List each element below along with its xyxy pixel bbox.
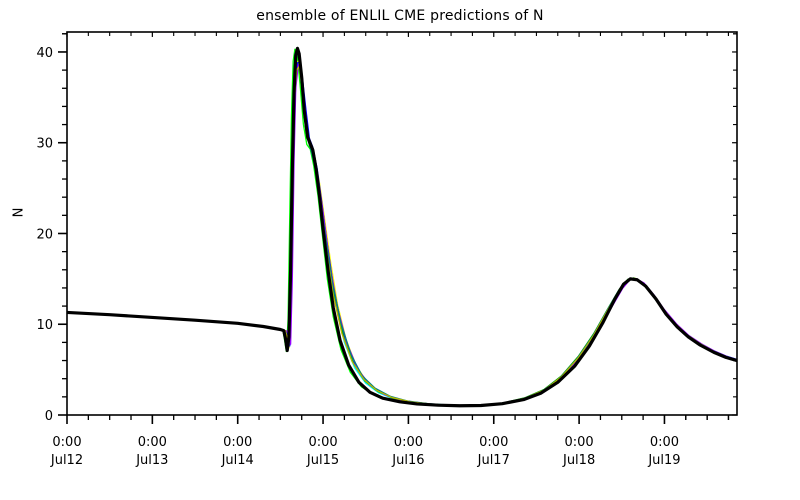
series-layer [67,48,737,405]
x-tick-label: 0:00Jul18 [562,435,595,468]
svg-text:0:00: 0:00 [52,435,81,450]
svg-text:Jul19: Jul19 [647,453,680,468]
series-line-member-08 [67,66,737,405]
svg-text:Jul18: Jul18 [562,453,595,468]
axes-layer [58,32,737,424]
svg-text:Jul17: Jul17 [477,453,510,468]
series-line-member-07 [67,50,737,405]
series-line-member-05 [67,51,737,405]
y-tick-label: 30 [36,137,53,152]
y-tick-label: 20 [36,227,53,242]
x-tick-label: 0:00Jul15 [306,435,339,468]
y-tick-label: 10 [36,318,53,333]
svg-text:Jul16: Jul16 [391,453,424,468]
svg-text:Jul13: Jul13 [135,453,168,468]
svg-text:0:00: 0:00 [138,435,167,450]
y-tick-label: 0 [45,409,53,424]
svg-text:Jul14: Jul14 [221,453,254,468]
x-tick-labels: 0:00Jul120:00Jul130:00Jul140:00Jul150:00… [50,435,681,468]
series-line-member-04 [67,62,737,406]
svg-text:0:00: 0:00 [223,435,252,450]
x-tick-label: 0:00Jul13 [135,435,168,468]
axes-frame [67,32,737,415]
y-tick-labels: 010203040 [36,46,53,424]
series-line-member-06 [67,65,737,406]
svg-text:0:00: 0:00 [308,435,337,450]
series-line-ensemble-mean [67,48,737,405]
x-tick-label: 0:00Jul16 [391,435,424,468]
series-line-member-01 [67,49,737,406]
ensemble-line-chart: 0:00Jul120:00Jul130:00Jul140:00Jul150:00… [0,0,800,500]
x-tick-label: 0:00Jul19 [647,435,680,468]
x-tick-label: 0:00Jul14 [221,435,254,468]
svg-text:Jul12: Jul12 [50,453,83,468]
x-tick-label: 0:00Jul17 [477,435,510,468]
svg-text:0:00: 0:00 [394,435,423,450]
series-line-member-03 [67,52,737,406]
svg-text:0:00: 0:00 [565,435,594,450]
plot-figure: ensemble of ENLIL CME predictions of N N… [0,0,800,500]
svg-text:0:00: 0:00 [650,435,679,450]
series-line-member-02 [67,59,737,405]
x-tick-label: 0:00Jul12 [50,435,83,468]
y-tick-label: 40 [36,46,53,61]
svg-text:0:00: 0:00 [479,435,508,450]
svg-text:Jul15: Jul15 [306,453,339,468]
